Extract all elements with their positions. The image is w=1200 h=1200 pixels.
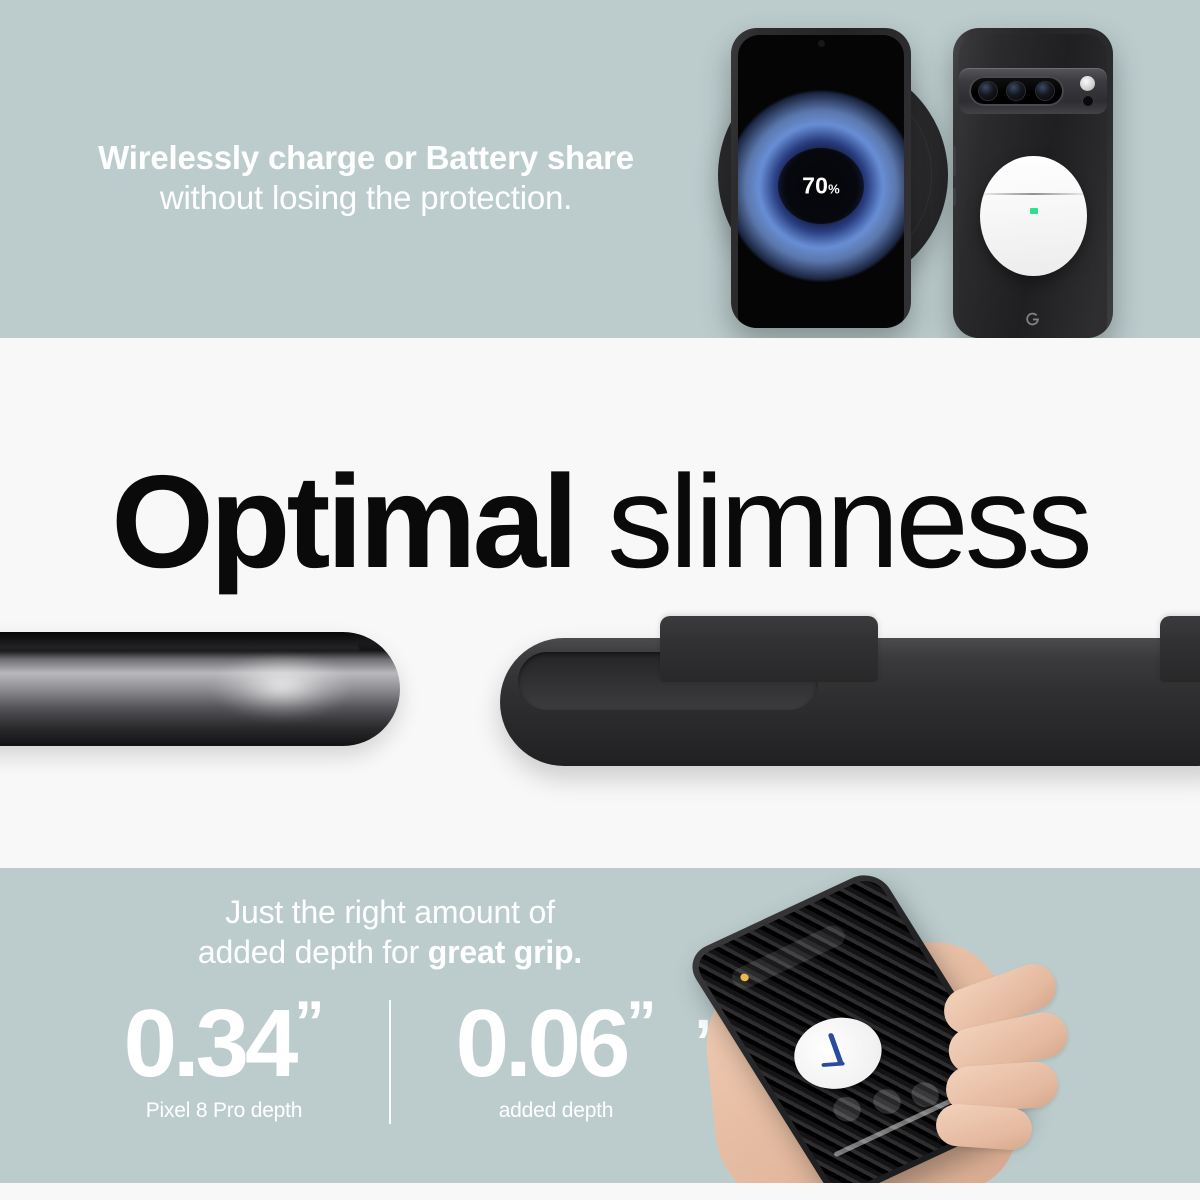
- battery-percentage-value: 70: [802, 172, 828, 198]
- stat-caption: Pixel 8 Pro depth: [59, 1099, 389, 1123]
- grip-line-2: added depth for great grip.: [60, 932, 720, 972]
- grip-line-1: Just the right amount of: [60, 892, 720, 932]
- wireless-charging-panel: Wirelessly charge or Battery share witho…: [0, 0, 1200, 338]
- volume-button-icon: [953, 188, 956, 206]
- front-camera-icon: [818, 40, 825, 47]
- wireless-charging-headline: Wirelessly charge or Battery share witho…: [66, 138, 666, 219]
- headline-light-word: slimness: [607, 448, 1088, 595]
- headline-line-1: Wirelessly charge or Battery share: [66, 138, 666, 178]
- slimness-panel: Optimal slimness: [0, 338, 1200, 868]
- page-title: Optimal slimness: [0, 456, 1200, 588]
- phone-back-icon: [953, 28, 1113, 338]
- grip-depth-panel: Just the right amount of added depth for…: [0, 868, 1200, 1183]
- stat-caption: added depth: [391, 1099, 721, 1123]
- camera-bar-icon: [959, 68, 1107, 114]
- power-button-icon: [953, 146, 956, 176]
- stat-unit: ”: [626, 989, 656, 1056]
- headline-line-2: without losing the protection.: [66, 178, 666, 218]
- finger-icon: [935, 1103, 1034, 1152]
- hand-holding-phone-icon: [690, 868, 1200, 1183]
- camera-bump-icon: [660, 616, 878, 682]
- stat-pixel-depth: 0.34” Pixel 8 Pro depth: [59, 994, 389, 1123]
- footer-strip: [0, 1183, 1200, 1200]
- spigen-logo-icon: [1024, 310, 1042, 328]
- phone-front-icon: 70%: [731, 28, 911, 328]
- stat-value-row: 0.06”: [391, 994, 721, 1089]
- lens-housing-icon: [969, 76, 1064, 106]
- grip-line-2-bold: great grip.: [428, 934, 582, 970]
- stat-unit: ”: [294, 989, 324, 1056]
- phone-edge-profile-icon: [0, 632, 400, 746]
- stat-value: 0.06: [456, 990, 627, 1097]
- battery-percentage: 70%: [802, 172, 840, 199]
- flash-icon: [1080, 76, 1095, 91]
- stat-value: 0.34: [124, 990, 295, 1097]
- camera-lens-icon: [978, 81, 998, 101]
- grip-line-2-plain: added depth for: [198, 934, 428, 970]
- earbuds-case-seam: [980, 193, 1087, 195]
- phone-screen: 70%: [738, 35, 904, 328]
- sensor-icon: [1082, 95, 1094, 107]
- stat-added-depth: 0.06” added depth: [391, 994, 721, 1123]
- camera-lens-icon: [1035, 81, 1055, 101]
- camera-lens-icon: [1006, 81, 1026, 101]
- grip-headline: Just the right amount of added depth for…: [60, 892, 720, 972]
- headline-bold-word: Optimal: [111, 448, 574, 595]
- depth-stats: 0.34” Pixel 8 Pro depth 0.06” added dept…: [40, 994, 740, 1124]
- camera-bump-icon: [1160, 616, 1200, 682]
- battery-percentage-unit: %: [828, 181, 840, 196]
- charging-led-icon: [1030, 208, 1038, 214]
- earbuds-case-icon: [980, 156, 1087, 276]
- stat-value-row: 0.34”: [59, 994, 389, 1089]
